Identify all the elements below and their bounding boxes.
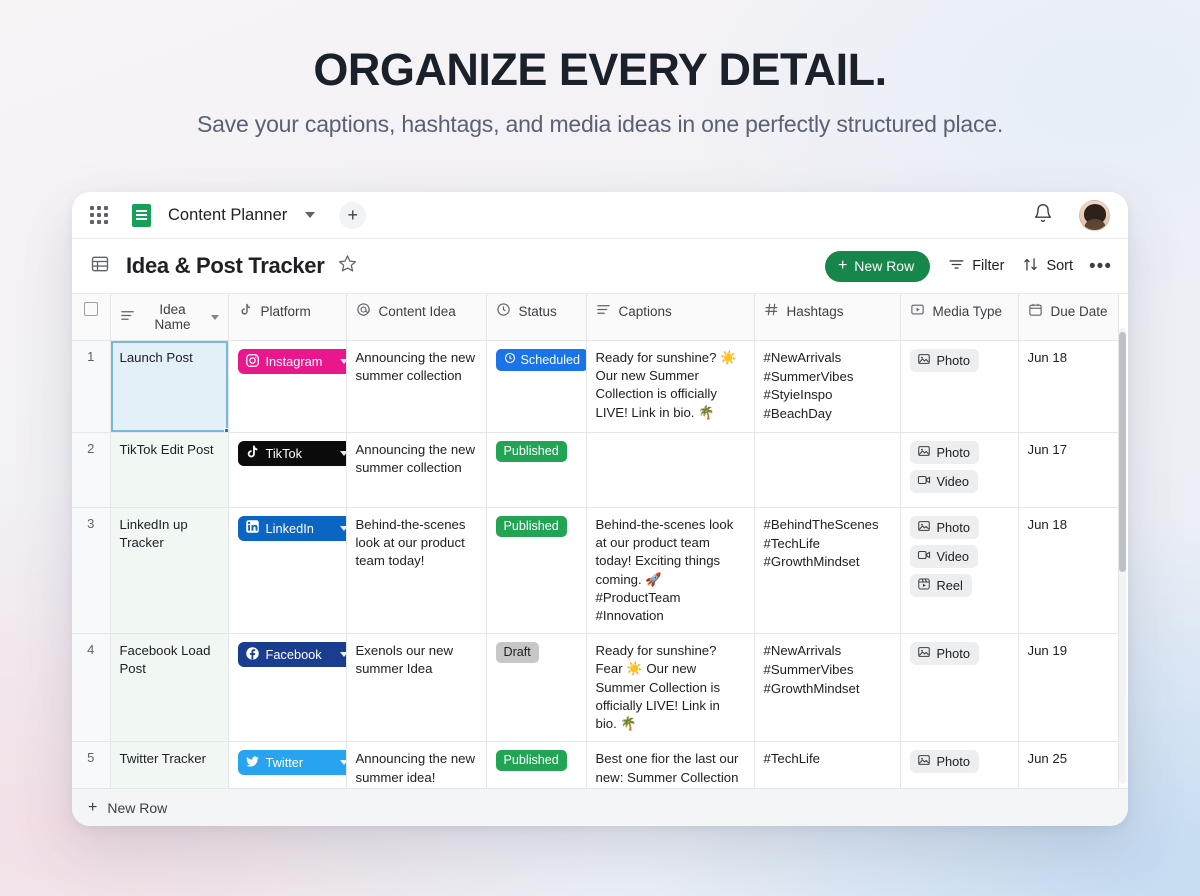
text-lines-icon xyxy=(596,302,611,320)
cell-hashtags[interactable]: #TechLife xyxy=(754,742,900,788)
sheet-header: Idea & Post Tracker + New Row Filter xyxy=(72,239,1128,294)
platform-chip-label: TikTok xyxy=(266,446,334,461)
media-chip-label: Reel xyxy=(937,578,963,593)
document-title: Content Planner xyxy=(168,206,287,225)
sort-icon xyxy=(1022,256,1039,277)
media-chip-label: Video xyxy=(937,474,970,489)
column-header-idea[interactable]: Idea Name xyxy=(110,294,228,341)
platform-chip-label: Instagram xyxy=(266,354,334,369)
media-chip-video[interactable]: Video xyxy=(910,470,979,493)
cell-hashtags[interactable] xyxy=(754,432,900,507)
column-header-due-date[interactable]: Due Date xyxy=(1018,294,1118,341)
hashtag-item: #SummerVibes xyxy=(764,661,891,680)
column-header-platform[interactable]: Platform xyxy=(228,294,346,341)
platform-chip-twitter[interactable]: Twitter xyxy=(238,750,347,775)
column-header-label: Platform xyxy=(261,304,311,319)
hashtag-item: #GrowthMindset xyxy=(764,553,891,572)
column-header-hashtags[interactable]: Hashtags xyxy=(754,294,900,341)
row-number[interactable]: 1 xyxy=(72,341,110,433)
new-row-button-label: New Row xyxy=(854,258,914,274)
hashtag-item: #SummerVibes xyxy=(764,368,891,387)
status-badge-label: Published xyxy=(504,753,559,768)
cell-status[interactable]: Scheduled xyxy=(486,341,586,433)
hashtag-item: #GrowthMindset xyxy=(764,680,891,699)
table-row[interactable]: 3 LinkedIn up Tracker LinkedIn Behind-th… xyxy=(72,507,1118,633)
media-chip-video[interactable]: Video xyxy=(910,545,979,568)
platform-chip-label: LinkedIn xyxy=(266,521,334,536)
status-badge-label: Draft xyxy=(504,645,531,660)
status-badge-label: Published xyxy=(504,444,559,459)
cell-captions[interactable]: Ready for sunshine? ☀️ Our new Summer Co… xyxy=(586,341,754,433)
grid-apps-icon[interactable] xyxy=(88,204,110,226)
content-idea-text: Announcing the new summer collection xyxy=(356,350,476,383)
column-header-captions[interactable]: Captions xyxy=(586,294,754,341)
status-badge[interactable]: Scheduled xyxy=(496,349,587,371)
cell-platform[interactable]: LinkedIn xyxy=(228,507,346,633)
cell-captions[interactable]: Best one fior the last our new: Summer C… xyxy=(586,742,754,788)
column-header-label: Due Date xyxy=(1051,304,1108,319)
due-date-text: Jun 17 xyxy=(1028,442,1068,457)
cell-status[interactable]: Published xyxy=(486,742,586,788)
cell-platform[interactable]: Instagram xyxy=(228,341,346,433)
table-icon xyxy=(90,254,110,279)
idea-name-text: Facebook Load Post xyxy=(120,643,211,676)
chevron-down-icon[interactable] xyxy=(340,359,347,364)
media-chip-label: Photo xyxy=(937,646,970,661)
platform-chip-instagram[interactable]: Instagram xyxy=(238,349,347,374)
status-badge-label: Scheduled xyxy=(521,353,581,368)
status-badge[interactable]: Draft xyxy=(496,642,539,663)
due-date-text: Jun 18 xyxy=(1028,350,1068,365)
content-idea-text: Behind-the-scenes look at our product te… xyxy=(356,517,466,568)
filter-button[interactable]: Filter xyxy=(948,256,1004,277)
idea-name-text: TikTok Edit Post xyxy=(120,442,214,457)
row-number[interactable]: 3 xyxy=(72,507,110,633)
idea-name-text: LinkedIn up Tracker xyxy=(120,517,188,550)
cell-platform[interactable]: Twitter xyxy=(228,742,346,788)
select-all-header[interactable] xyxy=(72,294,110,341)
plus-icon: + xyxy=(838,258,847,274)
footer-new-row-label: New Row xyxy=(107,800,167,816)
media-chip-photo[interactable]: Photo xyxy=(910,516,979,539)
table-row[interactable]: 2 TikTok Edit Post TikTok Announcing the… xyxy=(72,432,1118,507)
table-body: 1 Launch Post Instagram Announcing the n… xyxy=(72,341,1118,789)
sheets-doc-icon xyxy=(132,204,151,227)
hero-section: ORGANIZE EVERY DETAIL. Save your caption… xyxy=(0,0,1200,138)
platform-chip-label: Facebook xyxy=(266,647,334,662)
new-row-button[interactable]: + New Row xyxy=(825,251,930,282)
calendar-icon xyxy=(1028,302,1043,320)
photo-icon xyxy=(917,352,931,369)
content-idea-text: Announcing the new summer collection xyxy=(356,442,476,475)
cell-idea-name[interactable]: LinkedIn up Tracker xyxy=(110,507,228,633)
cell-captions[interactable] xyxy=(586,432,754,507)
table-head: Idea Name Platform xyxy=(72,294,1118,341)
instagram-icon xyxy=(245,353,260,371)
video-icon xyxy=(917,473,931,490)
vertical-scrollbar-thumb[interactable] xyxy=(1119,332,1126,572)
cell-media-type[interactable]: Photo xyxy=(900,634,1018,742)
hash-icon xyxy=(764,302,779,320)
cell-status[interactable]: Published xyxy=(486,432,586,507)
cell-media-type[interactable]: Photo Video xyxy=(900,432,1018,507)
cell-platform[interactable]: Facebook xyxy=(228,634,346,742)
cell-idea-name[interactable]: Facebook Load Post xyxy=(110,634,228,742)
sheet-grid: Idea Name Platform xyxy=(72,294,1128,788)
plus-icon: + xyxy=(88,800,97,816)
column-header-status[interactable]: Status xyxy=(486,294,586,341)
caption-text: Best one fior the last our new: Summer C… xyxy=(596,751,739,788)
column-header-label: Idea Name xyxy=(143,302,203,332)
column-header-label: Status xyxy=(519,304,557,319)
tiktok-icon xyxy=(245,444,260,462)
tiktok-note-icon xyxy=(238,302,253,320)
cell-media-type[interactable]: Photo xyxy=(900,341,1018,433)
twitter-icon xyxy=(245,754,260,772)
cell-idea-name[interactable]: TikTok Edit Post xyxy=(110,432,228,507)
content-idea-text: Exenols our new summer Idea xyxy=(356,643,454,676)
cell-due-date[interactable]: Jun 19 xyxy=(1018,634,1118,742)
bell-icon[interactable] xyxy=(1033,203,1053,228)
app-top-bar: Content Planner + xyxy=(72,192,1128,239)
row-number[interactable]: 5 xyxy=(72,742,110,788)
hashtag-item: #StyieInspo xyxy=(764,386,891,405)
media-chip-photo[interactable]: Photo xyxy=(910,642,979,665)
cell-media-type[interactable]: Photo xyxy=(900,742,1018,788)
page-title: ORGANIZE EVERY DETAIL. xyxy=(0,46,1200,93)
chevron-down-icon[interactable] xyxy=(340,526,347,531)
table-row[interactable]: 1 Launch Post Instagram Announcing the n… xyxy=(72,341,1118,433)
media-chip-label: Video xyxy=(937,549,970,564)
add-tab-button[interactable]: + xyxy=(339,202,366,229)
cell-content-idea[interactable]: Announcing the new summer idea! xyxy=(346,742,486,788)
sort-button[interactable]: Sort xyxy=(1022,256,1073,277)
cell-status[interactable]: Draft xyxy=(486,634,586,742)
column-header-label: Content Idea xyxy=(379,304,456,319)
hashtag-item: #BeachDay xyxy=(764,405,891,424)
cell-status[interactable]: Published xyxy=(486,507,586,633)
photo-icon xyxy=(917,444,931,461)
status-badge[interactable]: Published xyxy=(496,750,567,771)
chevron-down-icon[interactable] xyxy=(340,652,347,657)
caption-text: Behind-the-scenes look at our product te… xyxy=(596,517,734,623)
platform-chip-tiktok[interactable]: TikTok xyxy=(238,441,347,466)
platform-chip-linkedin[interactable]: LinkedIn xyxy=(238,516,347,541)
chevron-down-icon[interactable] xyxy=(211,315,219,320)
cell-platform[interactable]: TikTok xyxy=(228,432,346,507)
idea-name-text: Twitter Tracker xyxy=(120,751,206,766)
column-header-media-type[interactable]: Media Type xyxy=(900,294,1018,341)
hashtag-list: #NewArrivals#SummerVibes#StyieInspo#Beac… xyxy=(764,349,891,424)
play-box-icon xyxy=(910,302,925,320)
facebook-icon xyxy=(245,646,260,664)
media-chip-label: Photo xyxy=(937,754,970,769)
cell-media-type[interactable]: Photo Video Reel xyxy=(900,507,1018,633)
chevron-down-icon[interactable] xyxy=(305,212,315,218)
media-chip-photo[interactable]: Photo xyxy=(910,750,979,773)
avatar[interactable] xyxy=(1079,200,1110,231)
clock-icon xyxy=(504,352,516,368)
page-subtitle: Save your captions, hashtags, and media … xyxy=(0,111,1200,138)
media-chip-label: Photo xyxy=(937,445,970,460)
linkedin-icon xyxy=(245,519,260,537)
reel-icon xyxy=(917,577,931,594)
sheet-title: Idea & Post Tracker xyxy=(126,253,325,279)
caption-text: Ready for sunshine? ☀️ Our new Summer Co… xyxy=(596,350,737,420)
due-date-text: Jun 18 xyxy=(1028,517,1068,532)
hashtag-list: #TechLife xyxy=(764,750,891,769)
cell-content-idea[interactable]: Exenols our new summer Idea xyxy=(346,634,486,742)
row-number[interactable]: 4 xyxy=(72,634,110,742)
cell-content-idea[interactable]: Announcing the new summer collection xyxy=(346,341,486,433)
status-badge[interactable]: Published xyxy=(496,441,567,462)
row-number[interactable]: 2 xyxy=(72,432,110,507)
cell-captions[interactable]: Behind-the-scenes look at our product te… xyxy=(586,507,754,633)
platform-chip-label: Twitter xyxy=(266,755,334,770)
media-chip-photo[interactable]: Photo xyxy=(910,349,979,372)
media-chip-photo[interactable]: Photo xyxy=(910,441,979,464)
cell-due-date[interactable]: Jun 25 xyxy=(1018,742,1118,788)
cell-hashtags[interactable]: #BehindTheScenes#TechLife#GrowthMindset xyxy=(754,507,900,633)
column-header-label: Captions xyxy=(619,304,672,319)
table-row[interactable]: 5 Twitter Tracker Twitter Announcing the… xyxy=(72,742,1118,788)
more-options-button[interactable]: ••• xyxy=(1089,257,1112,276)
cell-idea-name[interactable]: Launch Post xyxy=(110,341,228,433)
media-chip-label: Photo xyxy=(937,520,970,535)
fill-handle[interactable] xyxy=(224,428,229,433)
at-circle-icon xyxy=(356,302,371,320)
table-row[interactable]: 4 Facebook Load Post Facebook Exenols ou… xyxy=(72,634,1118,742)
filter-button-label: Filter xyxy=(972,258,1004,274)
hashtag-item: #BehindTheScenes xyxy=(764,516,891,535)
video-icon xyxy=(917,548,931,565)
cell-hashtags[interactable]: #NewArrivals#SummerVibes#StyieInspo#Beac… xyxy=(754,341,900,433)
hashtag-item: #NewArrivals xyxy=(764,349,891,368)
hashtag-list: #BehindTheScenes#TechLife#GrowthMindset xyxy=(764,516,891,572)
photo-icon xyxy=(917,753,931,770)
column-header-content-idea[interactable]: Content Idea xyxy=(346,294,486,341)
idea-name-text: Launch Post xyxy=(120,350,193,365)
platform-chip-facebook[interactable]: Facebook xyxy=(238,642,347,667)
column-header-label: Hashtags xyxy=(787,304,844,319)
clock-icon xyxy=(496,302,511,320)
hashtag-item: #NewArrivals xyxy=(764,642,891,661)
table-header-row: Idea Name Platform xyxy=(72,294,1118,341)
cell-captions[interactable]: Ready for sunshine? Fear ☀️ Our new Summ… xyxy=(586,634,754,742)
content-idea-text: Announcing the new summer idea! xyxy=(356,751,476,784)
chevron-down-icon[interactable] xyxy=(340,451,347,456)
hashtag-item: #TechLife xyxy=(764,750,891,769)
filter-icon xyxy=(948,256,965,277)
due-date-text: Jun 25 xyxy=(1028,751,1068,766)
column-header-label: Media Type xyxy=(933,304,1003,319)
select-all-checkbox[interactable] xyxy=(84,302,98,316)
star-outline-icon[interactable] xyxy=(338,254,357,278)
media-chip-reel[interactable]: Reel xyxy=(910,574,972,597)
cell-due-date[interactable]: Jun 18 xyxy=(1018,341,1118,433)
cell-due-date[interactable]: Jun 17 xyxy=(1018,432,1118,507)
footer-new-row-button[interactable]: + New Row xyxy=(72,788,1128,826)
media-chip-label: Photo xyxy=(937,353,970,368)
vertical-scrollbar-track[interactable] xyxy=(1119,328,1126,784)
caption-text: Ready for sunshine? Fear ☀️ Our new Summ… xyxy=(596,643,721,731)
text-lines-icon xyxy=(120,308,135,326)
cell-hashtags[interactable]: #NewArrivals#SummerVibes#GrowthMindset xyxy=(754,634,900,742)
data-table: Idea Name Platform xyxy=(72,294,1119,788)
cell-idea-name[interactable]: Twitter Tracker xyxy=(110,742,228,788)
cell-due-date[interactable]: Jun 18 xyxy=(1018,507,1118,633)
hashtag-list: #NewArrivals#SummerVibes#GrowthMindset xyxy=(764,642,891,698)
photo-icon xyxy=(917,645,931,662)
due-date-text: Jun 19 xyxy=(1028,643,1068,658)
cell-content-idea[interactable]: Behind-the-scenes look at our product te… xyxy=(346,507,486,633)
status-badge[interactable]: Published xyxy=(496,516,567,537)
photo-icon xyxy=(917,519,931,536)
chevron-down-icon[interactable] xyxy=(340,760,347,765)
sort-button-label: Sort xyxy=(1046,258,1073,274)
app-window: Content Planner + Idea & Post Tracker xyxy=(72,192,1128,826)
cell-content-idea[interactable]: Announcing the new summer collection xyxy=(346,432,486,507)
status-badge-label: Published xyxy=(504,519,559,534)
hashtag-item: #TechLife xyxy=(764,535,891,554)
